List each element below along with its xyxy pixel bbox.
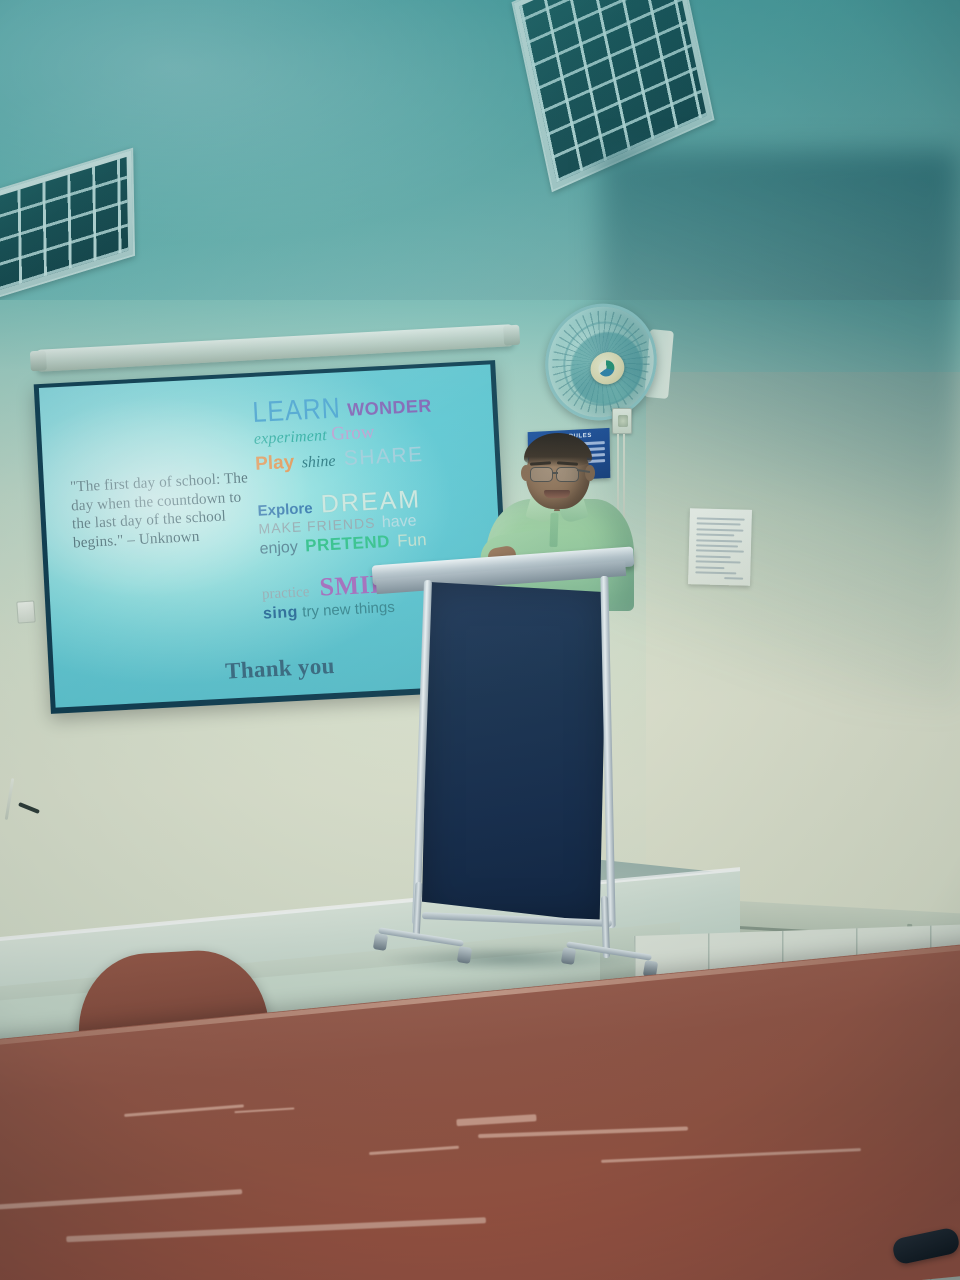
- fan-hub: [589, 350, 625, 386]
- wall-shadow: [600, 150, 960, 710]
- presenter-ear-right: [585, 465, 595, 481]
- light-switch-plate[interactable]: [16, 600, 35, 623]
- word-cloud-row: Play shine SHARE: [255, 443, 442, 474]
- word-learn: LEARN: [252, 394, 342, 427]
- slide-quote: "The first day of school: The day when t…: [70, 469, 256, 553]
- word-wonder: WONDER: [347, 397, 432, 419]
- presenter-shirt-placket: [549, 513, 558, 547]
- podium-castor: [457, 946, 472, 964]
- glasses-bridge: [552, 472, 558, 474]
- word-experiment: experiment: [253, 428, 327, 448]
- podium-front-panel: [422, 582, 607, 922]
- wall-fan: [541, 300, 669, 422]
- word-play: Play: [255, 453, 295, 474]
- word-explore: Explore: [257, 501, 313, 519]
- word-grow: Grow: [331, 423, 375, 444]
- word-sing: sing: [263, 605, 299, 623]
- word-practice: practice: [262, 585, 310, 602]
- housing-end-cap-left: [30, 350, 47, 371]
- word-share: SHARE: [343, 444, 424, 469]
- fan-control-box[interactable]: [612, 408, 632, 434]
- podium-castor: [373, 933, 388, 951]
- word-shine: shine: [301, 454, 336, 472]
- fan-guard-cage: [541, 297, 660, 427]
- word-fun: Fun: [397, 531, 427, 550]
- podium-castor: [561, 947, 576, 965]
- classroom-photo: "The first day of school: The day when t…: [0, 0, 960, 1280]
- fan-blades: [568, 328, 644, 409]
- word-have: have: [381, 513, 416, 531]
- wall-notice-poster: [688, 508, 752, 586]
- glasses-lens-left: [530, 467, 553, 482]
- podium: [370, 548, 645, 968]
- housing-end-cap-right: [503, 325, 520, 346]
- glasses-lens-right: [556, 467, 579, 482]
- word-enjoy: enjoy: [259, 540, 298, 558]
- fan-brand-logo-icon: [598, 359, 615, 377]
- podium-foot-left: [378, 927, 464, 946]
- presenter-mouth: [544, 490, 570, 498]
